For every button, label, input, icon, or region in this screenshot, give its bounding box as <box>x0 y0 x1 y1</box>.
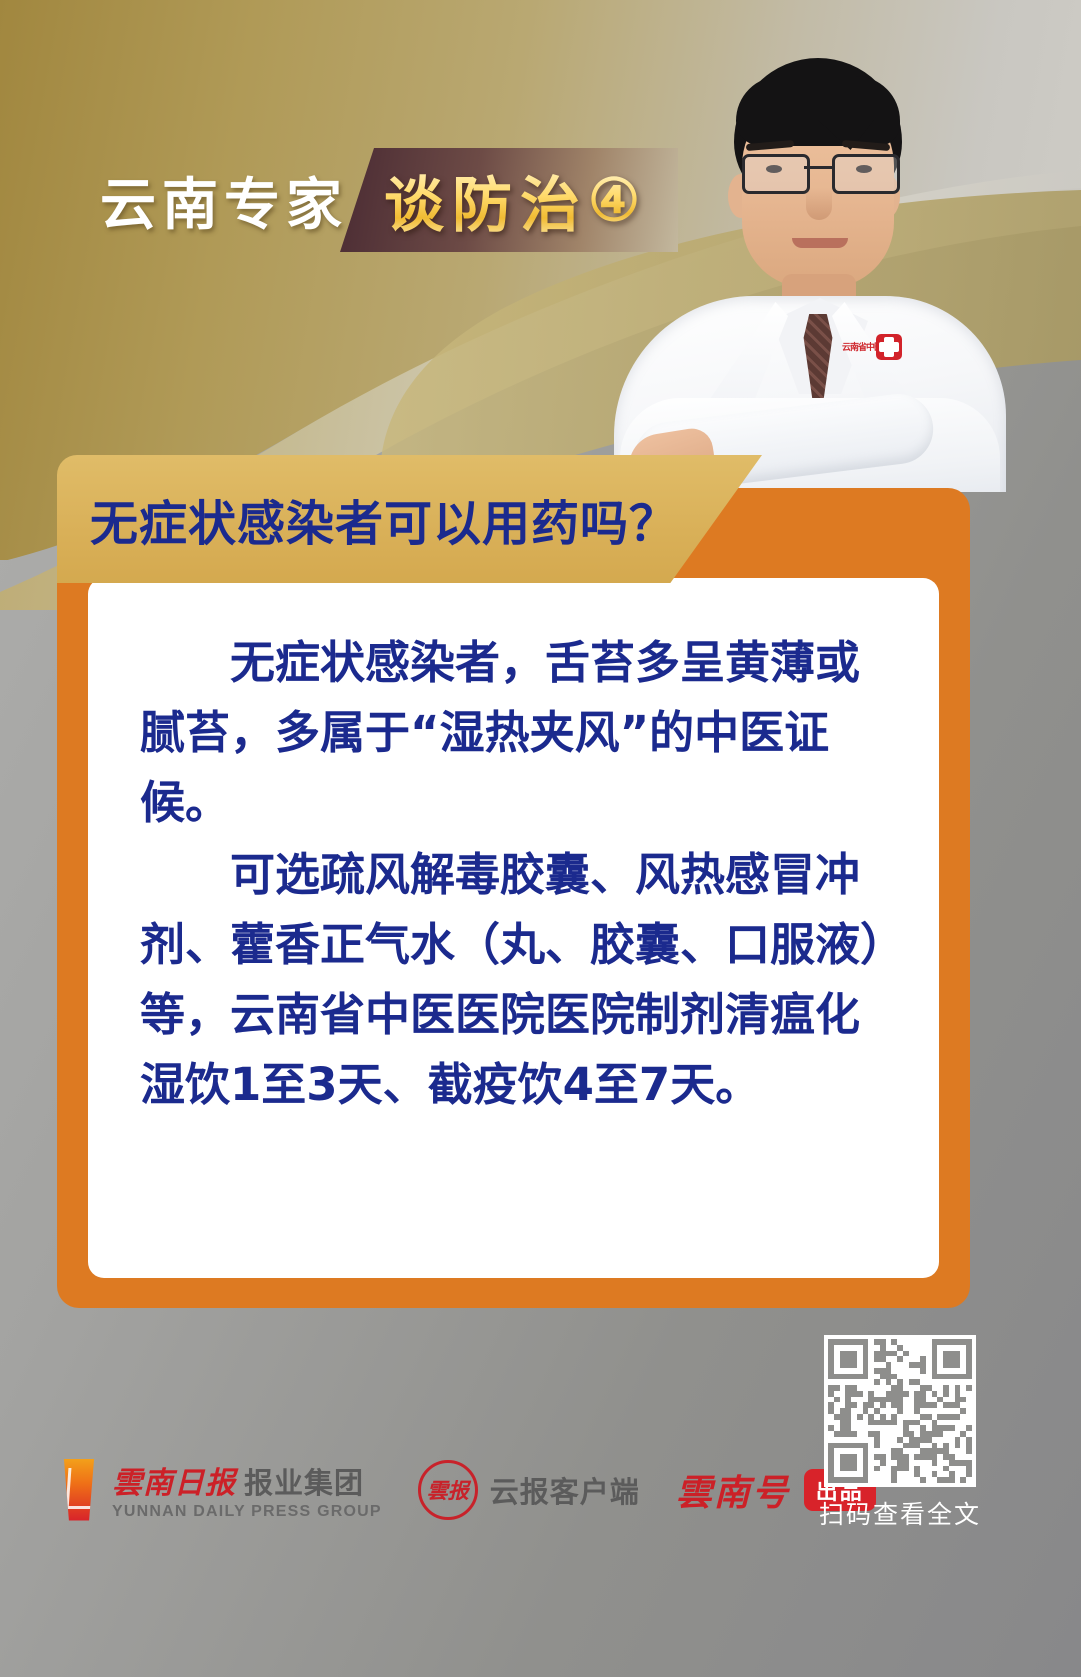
poster-root: 云南省中医医院 云南专家 谈防治 ④ 无症状感染者可以用药吗？ 无症状感染者，舌… <box>0 0 1081 1677</box>
logo-yunbao-app[interactable]: 雲报 云报客户端 <box>418 1460 640 1520</box>
logo-yunnan-daily-press-group[interactable]: 雲南日报 报业集团 YUNNAN DAILY PRESS GROUP <box>58 1458 382 1521</box>
qr-code-image[interactable] <box>824 1335 976 1487</box>
yunbao-app-label: 云报客户端 <box>490 1469 640 1511</box>
lens-left <box>742 154 810 194</box>
hospital-badge-icon: 云南省中医医院 <box>842 328 908 366</box>
qr-caption: 扫码查看全文 <box>819 1495 981 1531</box>
press-group-en: YUNNAN DAILY PRESS GROUP <box>112 1503 382 1521</box>
episode-number-icon: ④ <box>588 166 648 234</box>
question-text: 无症状感染者可以用药吗？ <box>90 484 678 554</box>
doctor-portrait: 云南省中医医院 <box>606 46 1006 492</box>
title-plate: 谈防治 ④ <box>340 148 678 252</box>
press-group-cn-line: 雲南日报 报业集团 <box>112 1458 382 1502</box>
title-right-text: 谈防治 <box>384 157 588 244</box>
page-title: 云南专家 谈防治 ④ <box>100 148 678 252</box>
press-group-cn-gray: 报业集团 <box>244 1460 364 1502</box>
title-left-text: 云南专家 <box>100 160 366 241</box>
answer-paragraph-1: 无症状感染者，舌苔多呈黄薄或腻苔，多属于“湿热夹风”的中医证候。 <box>140 628 900 838</box>
yunbao-seal-icon: 雲报 <box>418 1460 478 1520</box>
press-group-cup-icon <box>58 1459 100 1521</box>
question-banner: 无症状感染者可以用药吗？ <box>57 455 762 583</box>
press-group-cn-red: 雲南日报 <box>112 1458 236 1502</box>
answer-text-block: 无症状感染者，舌苔多呈黄薄或腻苔，多属于“湿热夹风”的中医证候。 可选疏风解毒胶… <box>140 628 900 1122</box>
lens-right <box>832 154 900 194</box>
answer-paragraph-2: 可选疏风解毒胶囊、风热感冒冲剂、藿香正气水（丸、胶囊、口服液）等，云南省中医医院… <box>140 840 900 1120</box>
medical-cross-icon <box>876 334 902 360</box>
hair-fringe <box>736 76 900 146</box>
nose-shape <box>806 188 832 220</box>
yunnan-hao-brand: 雲南号 <box>676 1464 790 1516</box>
logo-row: 雲南日报 报业集团 YUNNAN DAILY PRESS GROUP 雲报 云报… <box>58 1458 876 1521</box>
qr-block[interactable]: 扫码查看全文 <box>800 1335 1000 1531</box>
press-group-text: 雲南日报 报业集团 YUNNAN DAILY PRESS GROUP <box>112 1458 382 1521</box>
glasses-icon <box>740 154 898 190</box>
mouth-shape <box>792 238 848 248</box>
glasses-bridge <box>804 166 834 169</box>
